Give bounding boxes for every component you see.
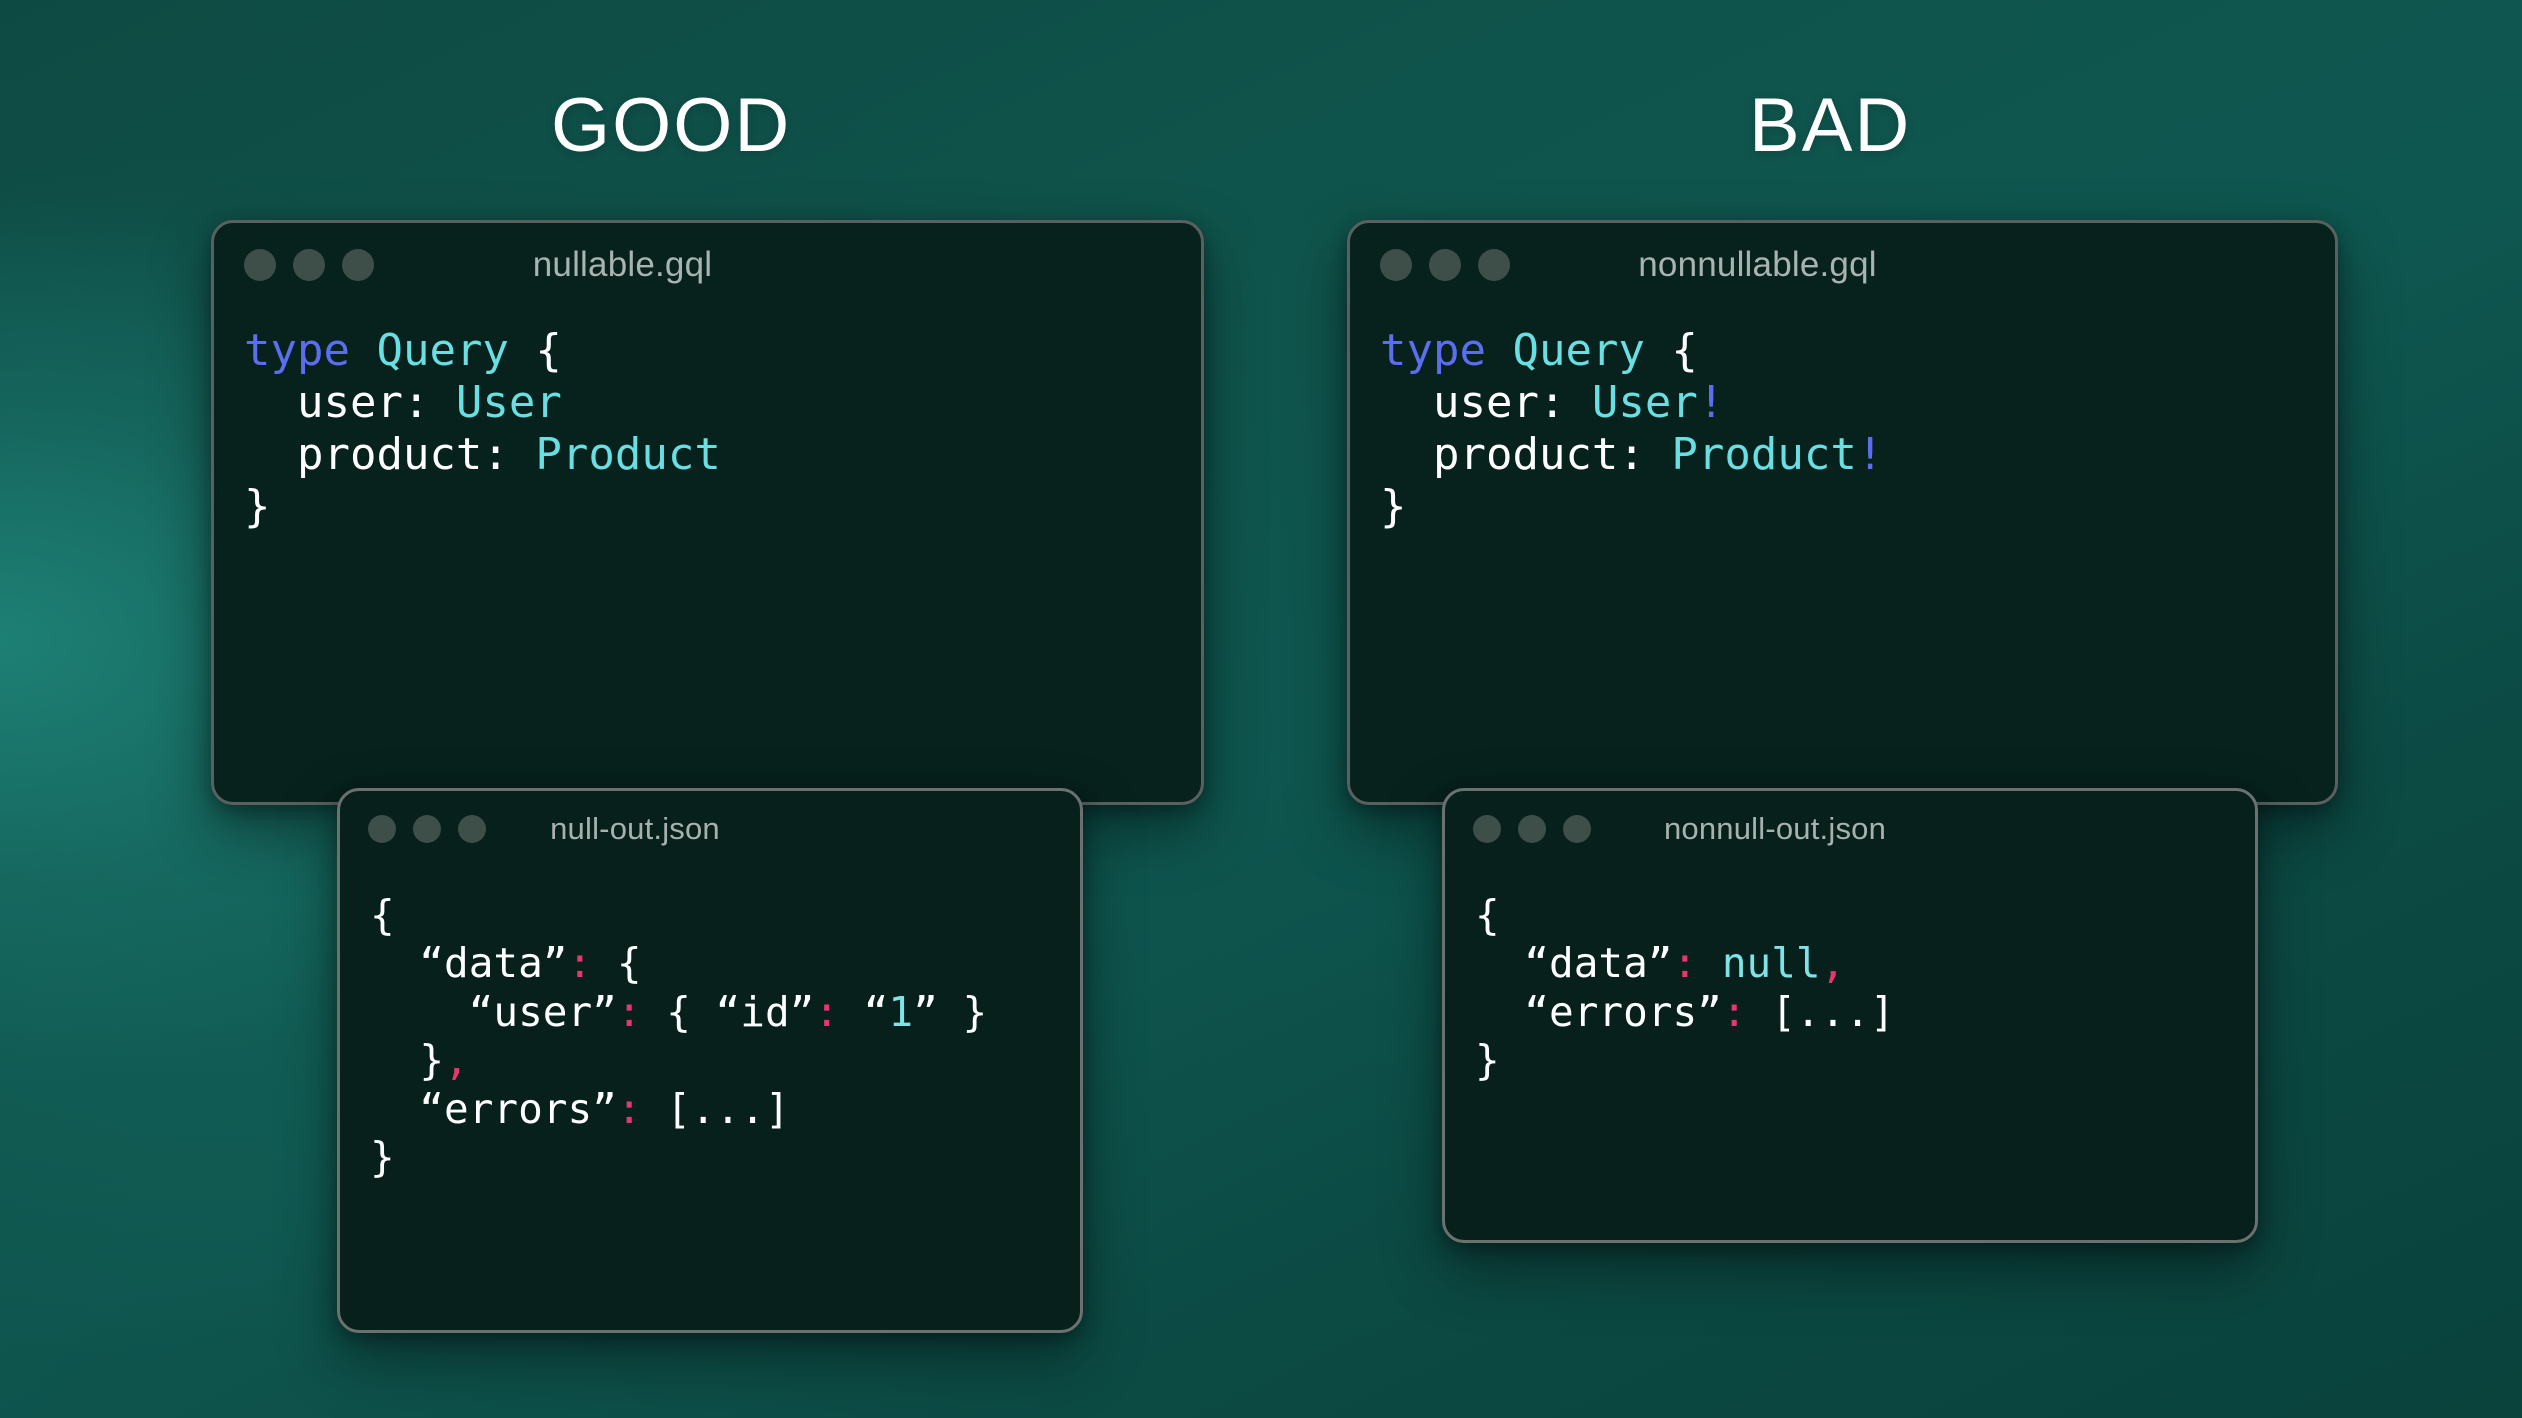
code-token-punct: user: bbox=[1380, 377, 1592, 428]
code-token-punct: { bbox=[1475, 891, 1500, 939]
code-token-keyword: type bbox=[244, 325, 350, 376]
code-line: “errors”: [...] bbox=[370, 1085, 1080, 1133]
code-token-punct bbox=[350, 325, 377, 376]
code-token-type: Product bbox=[535, 429, 720, 480]
code-line: }, bbox=[370, 1036, 1080, 1084]
code-token-punct: product: bbox=[244, 429, 535, 480]
code-line: “data”: { bbox=[370, 939, 1080, 987]
code-token-string: “user” bbox=[370, 988, 617, 1036]
code-token-punct: [...] bbox=[1747, 988, 1895, 1036]
maximize-dot-icon[interactable] bbox=[1563, 815, 1591, 843]
code-token-colon: : bbox=[617, 988, 642, 1036]
code-token-punct: ” } bbox=[913, 988, 987, 1036]
code-line: } bbox=[370, 1133, 1080, 1181]
code-token-punct: { bbox=[1645, 325, 1698, 376]
window-dots bbox=[368, 815, 486, 843]
code-token-value: 1 bbox=[888, 988, 913, 1036]
code-token-punct: { bbox=[509, 325, 562, 376]
code-line: { bbox=[370, 891, 1080, 939]
code-line: } bbox=[1380, 481, 2335, 533]
code-token-punct bbox=[1486, 325, 1513, 376]
comparison-graphic: GOOD nullable.gql type Query { user: Use… bbox=[0, 0, 2522, 1418]
close-dot-icon[interactable] bbox=[368, 815, 396, 843]
code-token-punct: [...] bbox=[642, 1085, 790, 1133]
code-token-string: “data” bbox=[1475, 939, 1672, 987]
code-null-out-json: { “data”: { “user”: { “id”: “1” } }, “er… bbox=[340, 867, 1080, 1181]
code-token-punct: user: bbox=[244, 377, 456, 428]
code-token-value: null bbox=[1722, 939, 1821, 987]
code-line: “errors”: [...] bbox=[1475, 988, 2255, 1036]
minimize-dot-icon[interactable] bbox=[1429, 249, 1461, 281]
minimize-dot-icon[interactable] bbox=[293, 249, 325, 281]
titlebar-nullable-gql: nullable.gql bbox=[214, 223, 1201, 307]
code-token-colon: : bbox=[617, 1085, 642, 1133]
maximize-dot-icon[interactable] bbox=[1478, 249, 1510, 281]
code-token-comma: , bbox=[1821, 939, 1846, 987]
code-token-colon: : bbox=[1672, 939, 1697, 987]
code-token-type: Product bbox=[1671, 429, 1856, 480]
code-token-punct: { bbox=[642, 988, 716, 1036]
window-dots bbox=[1473, 815, 1591, 843]
code-line: product: Product bbox=[244, 429, 1201, 481]
close-dot-icon[interactable] bbox=[1380, 249, 1412, 281]
maximize-dot-icon[interactable] bbox=[458, 815, 486, 843]
titlebar-null-out-json: null-out.json bbox=[340, 791, 1080, 867]
code-token-string: “id” bbox=[716, 988, 815, 1036]
code-token-string: “data” bbox=[370, 939, 567, 987]
code-token-punct: } bbox=[1380, 481, 1407, 532]
code-nonnull-out-json: { “data”: null, “errors”: [...]} bbox=[1445, 867, 2255, 1085]
code-line: “data”: null, bbox=[1475, 939, 2255, 987]
code-nullable-gql: type Query { user: User product: Product… bbox=[214, 307, 1201, 533]
close-dot-icon[interactable] bbox=[244, 249, 276, 281]
code-token-type: User bbox=[456, 377, 562, 428]
window-nullable-gql[interactable]: nullable.gql type Query { user: User pro… bbox=[211, 220, 1204, 805]
code-line: product: Product! bbox=[1380, 429, 2335, 481]
code-token-colon: : bbox=[814, 988, 839, 1036]
minimize-dot-icon[interactable] bbox=[1518, 815, 1546, 843]
window-nonnull-out-json[interactable]: nonnull-out.json { “data”: null, “errors… bbox=[1442, 788, 2258, 1243]
code-token-string: “errors” bbox=[1475, 988, 1722, 1036]
code-line: user: User bbox=[244, 377, 1201, 429]
code-token-bang: ! bbox=[1698, 377, 1725, 428]
code-token-punct: { bbox=[370, 891, 395, 939]
code-token-bang: ! bbox=[1857, 429, 1884, 480]
code-token-punct bbox=[1697, 939, 1722, 987]
code-line: type Query { bbox=[1380, 325, 2335, 377]
window-dots bbox=[1380, 249, 1510, 281]
code-token-colon: : bbox=[567, 939, 592, 987]
code-nonnullable-gql: type Query { user: User! product: Produc… bbox=[1350, 307, 2335, 533]
window-null-out-json[interactable]: null-out.json { “data”: { “user”: { “id”… bbox=[337, 788, 1083, 1333]
window-nonnullable-gql[interactable]: nonnullable.gql type Query { user: User!… bbox=[1347, 220, 2338, 805]
titlebar-nonnull-out-json: nonnull-out.json bbox=[1445, 791, 2255, 867]
heading-good: GOOD bbox=[551, 88, 791, 164]
code-line: user: User! bbox=[1380, 377, 2335, 429]
code-token-type: Query bbox=[376, 325, 508, 376]
code-token-punct: “ bbox=[839, 988, 888, 1036]
code-token-type: Query bbox=[1512, 325, 1644, 376]
code-line: } bbox=[1475, 1036, 2255, 1084]
code-token-punct: { bbox=[592, 939, 641, 987]
code-line: type Query { bbox=[244, 325, 1201, 377]
code-token-string: “errors” bbox=[370, 1085, 617, 1133]
code-token-comma: , bbox=[444, 1036, 469, 1084]
code-line: { bbox=[1475, 891, 2255, 939]
code-token-keyword: type bbox=[1380, 325, 1486, 376]
code-token-punct: } bbox=[370, 1133, 395, 1181]
maximize-dot-icon[interactable] bbox=[342, 249, 374, 281]
heading-bad: BAD bbox=[1749, 88, 1911, 164]
titlebar-nonnullable-gql: nonnullable.gql bbox=[1350, 223, 2335, 307]
code-token-type: User bbox=[1592, 377, 1698, 428]
code-token-colon: : bbox=[1722, 988, 1747, 1036]
minimize-dot-icon[interactable] bbox=[413, 815, 441, 843]
code-token-punct: } bbox=[1475, 1036, 1500, 1084]
code-token-punct: product: bbox=[1380, 429, 1671, 480]
window-dots bbox=[244, 249, 374, 281]
code-line: } bbox=[244, 481, 1201, 533]
code-line: “user”: { “id”: “1” } bbox=[370, 988, 1080, 1036]
close-dot-icon[interactable] bbox=[1473, 815, 1501, 843]
code-token-punct: } bbox=[244, 481, 271, 532]
code-token-punct: } bbox=[370, 1036, 444, 1084]
